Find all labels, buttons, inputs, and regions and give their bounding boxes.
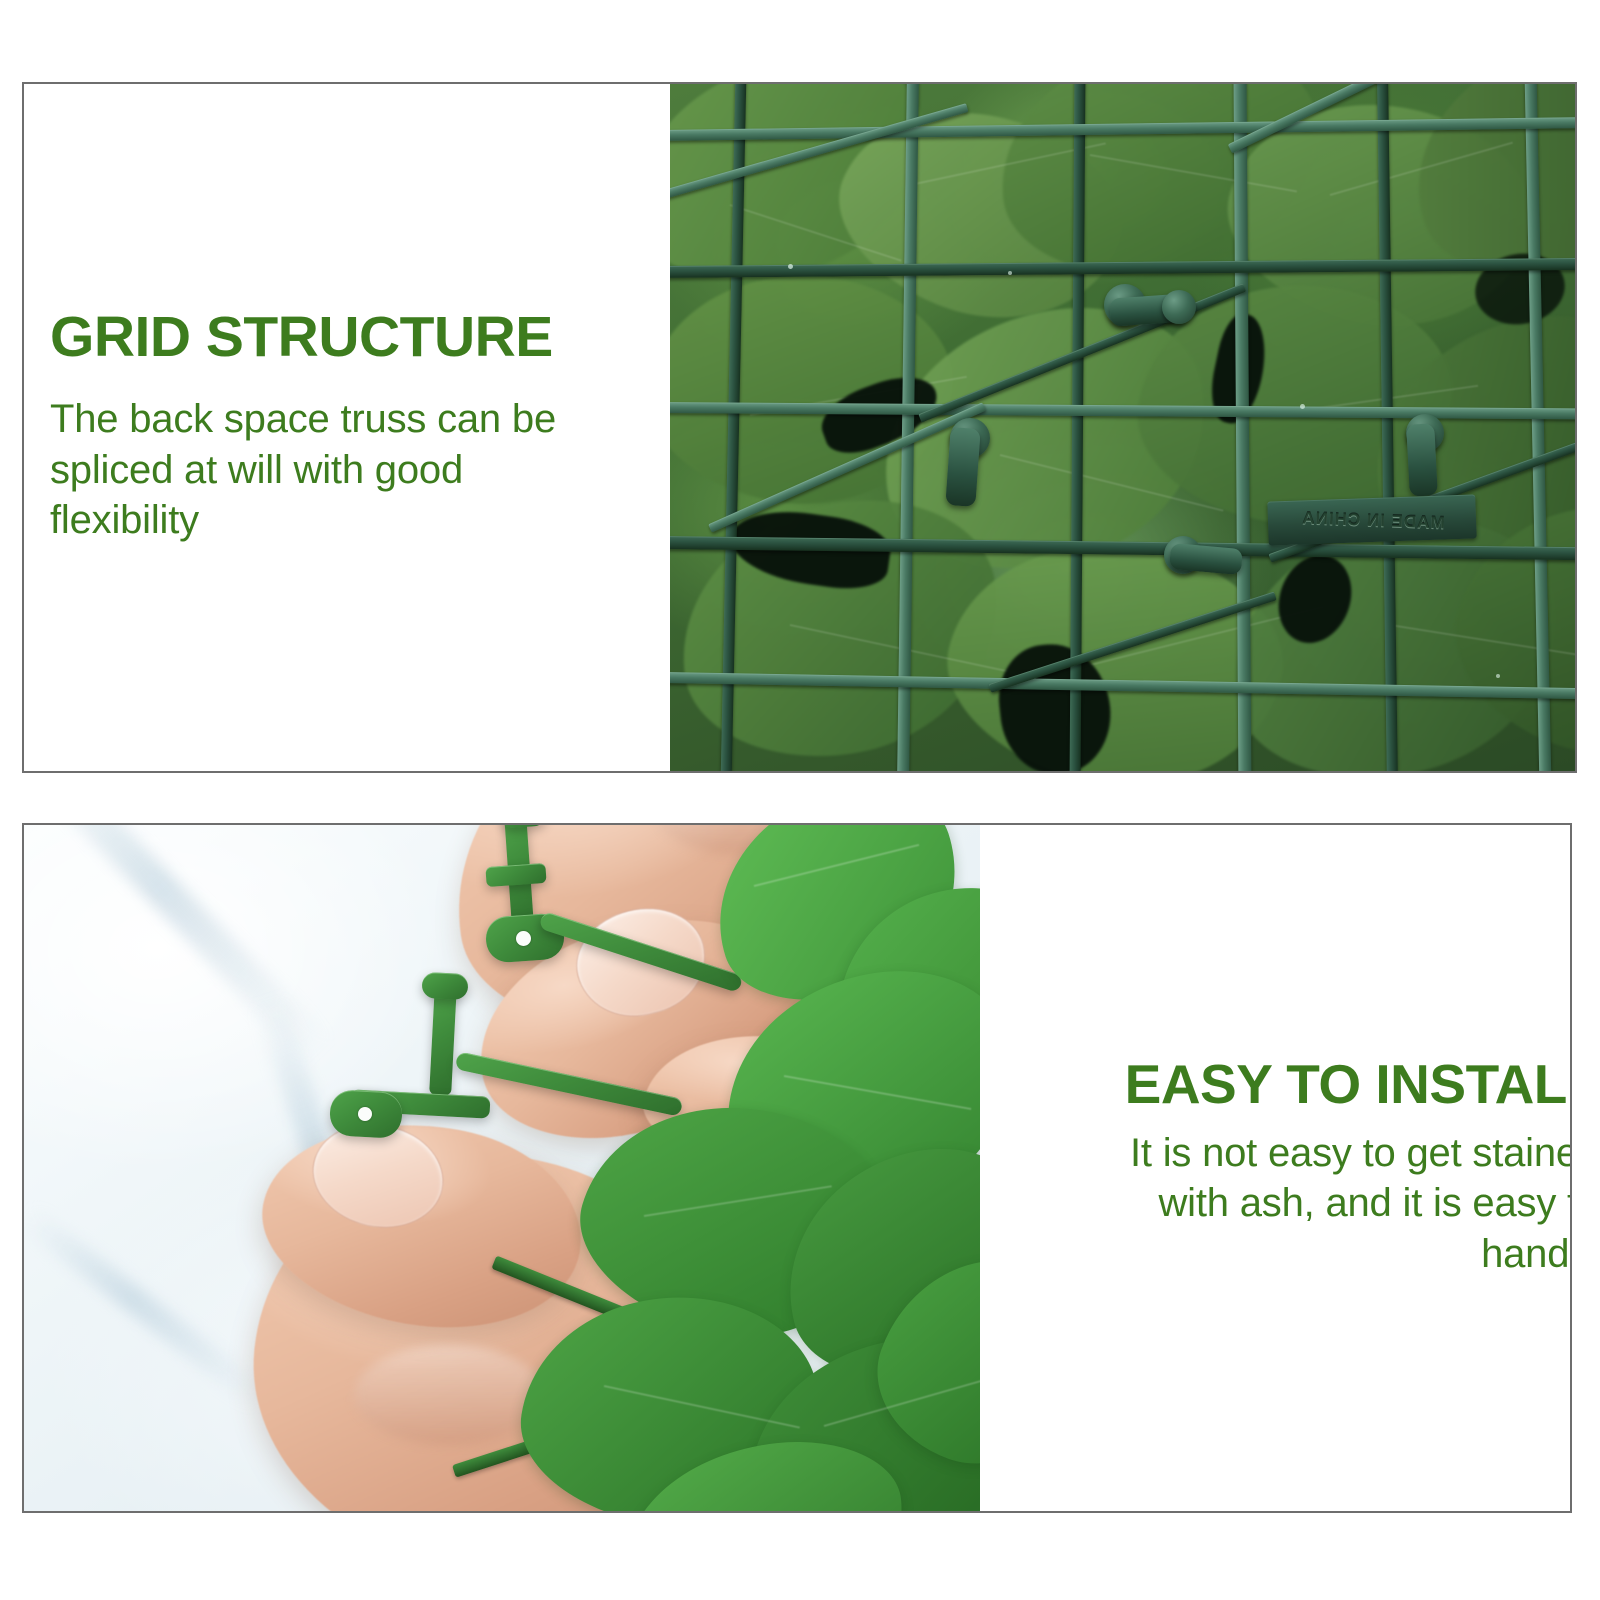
grid-connector-stub xyxy=(945,427,980,507)
grid-structure-body: The back space truss can be spliced at w… xyxy=(50,394,590,545)
easy-to-install-photo xyxy=(24,825,980,1511)
grid-connector-node xyxy=(1162,290,1196,324)
easy-to-install-body: It is not easy to get stained with ash, … xyxy=(1060,1128,1572,1279)
plastic-speckle xyxy=(1300,404,1305,409)
grid-connector-stub xyxy=(1406,423,1438,496)
connector-clip-upper xyxy=(485,863,546,887)
easy-to-install-headline: EASY TO INSTALL xyxy=(1125,1057,1572,1112)
connector-clip-lower xyxy=(421,972,468,1000)
grid-structure-text-block: GRID STRUCTURE The back space truss can … xyxy=(24,84,670,771)
plastic-speckle xyxy=(1496,674,1500,678)
panel-easy-to-install: EASY TO INSTALL It is not easy to get st… xyxy=(22,823,1572,1513)
clip-hole xyxy=(358,1107,372,1121)
easy-to-install-text-block: EASY TO INSTALL It is not easy to get st… xyxy=(980,825,1572,1511)
clip-hole xyxy=(516,931,531,946)
panel-grid-structure: GRID STRUCTURE The back space truss can … xyxy=(22,82,1577,773)
plastic-speckle xyxy=(788,264,793,269)
plastic-speckle xyxy=(1008,271,1012,275)
grid-structure-headline: GRID STRUCTURE xyxy=(50,309,636,366)
connector-clip-lower xyxy=(429,984,457,1095)
cloth-fold xyxy=(24,1205,270,1410)
grid-structure-photo: MADE IN CHINA xyxy=(670,84,1575,771)
knuckle-highlight xyxy=(354,1345,544,1445)
